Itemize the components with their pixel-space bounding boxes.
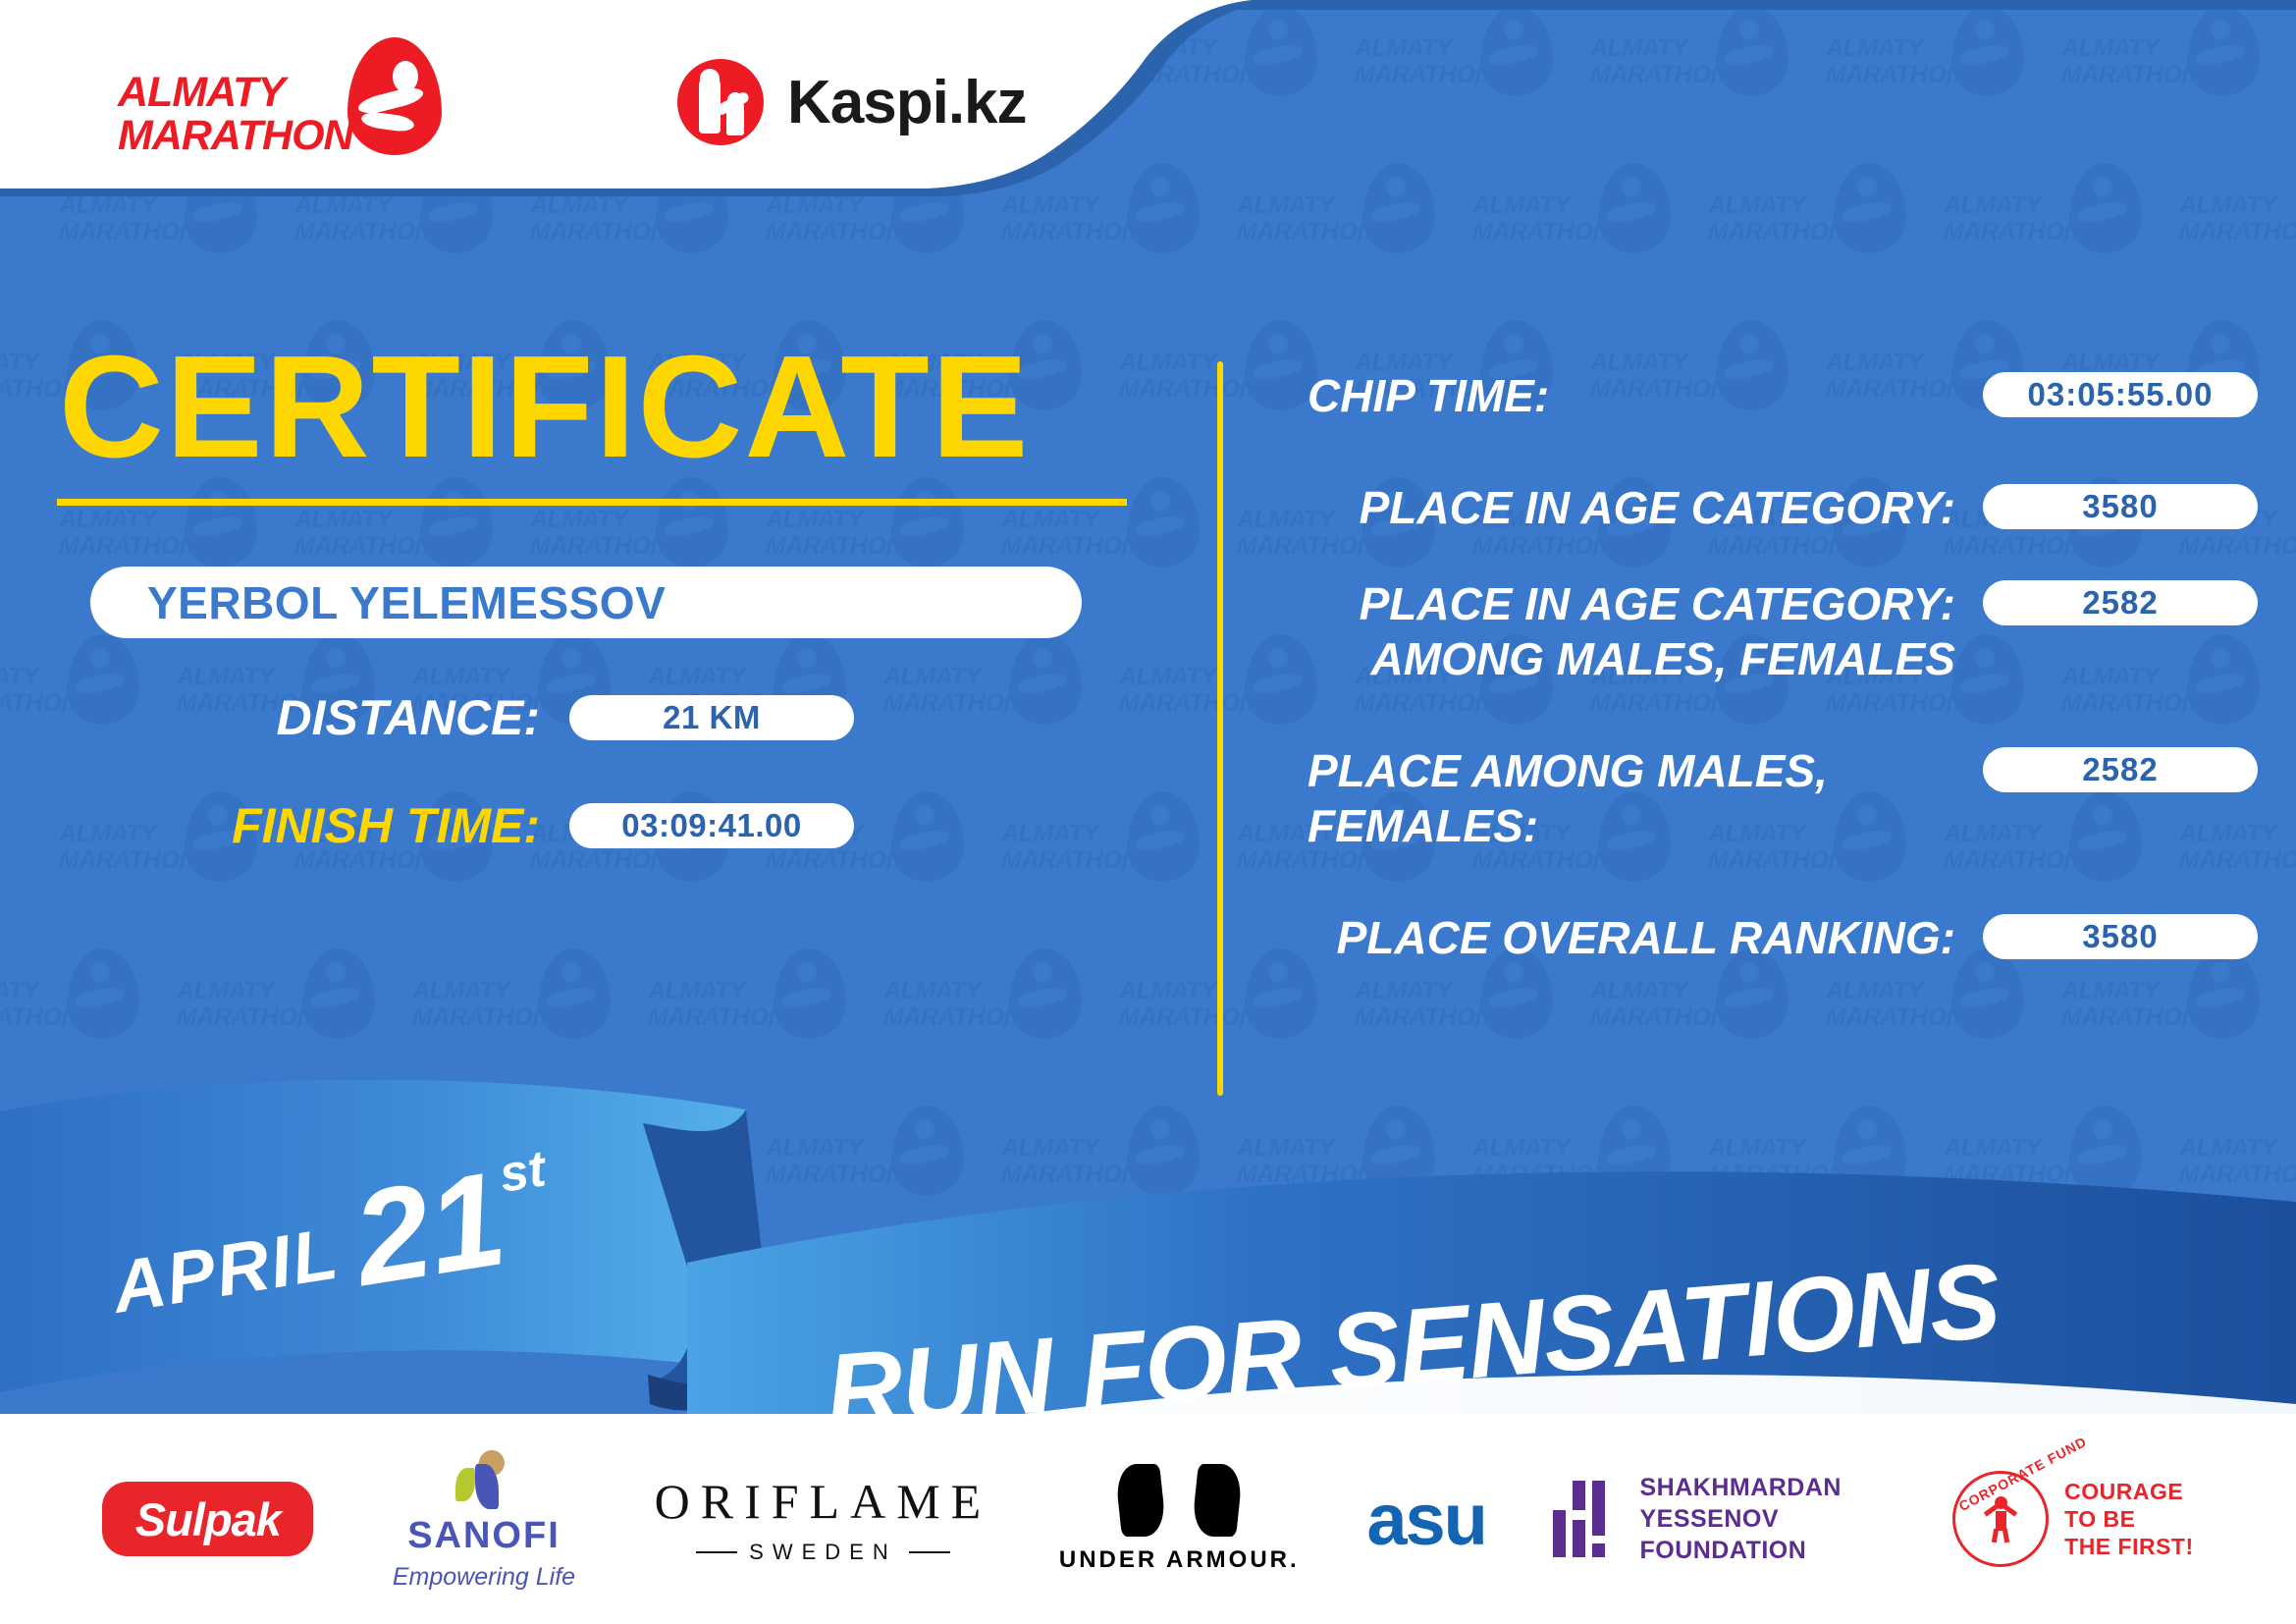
- finish-time-row: FINISH TIME: 03:09:41.00: [0, 797, 1217, 854]
- bar-5: [1592, 1543, 1605, 1557]
- place-in-age-category-value-pill: 3580: [1983, 484, 2258, 529]
- oriflame-subline: SWEDEN: [655, 1540, 992, 1565]
- runner-leg-shape: [360, 110, 415, 133]
- watermark-tile: ALMATYMARATHON: [1355, 0, 1590, 157]
- yessenov-bars-icon: [1553, 1481, 1618, 1557]
- watermark-text: ALMATYMARATHON: [648, 978, 772, 1031]
- page-title: CERTIFICATE: [59, 334, 1217, 481]
- distance-value: 21 KM: [663, 699, 761, 736]
- watermark-tile: ALMATYMARATHON: [177, 943, 412, 1100]
- watermark-text: ALMATYMARATHON: [1472, 192, 1596, 245]
- yessenov-line-2: FOUNDATION: [1639, 1535, 1885, 1566]
- sulpak-wordmark: Sulpak: [135, 1492, 281, 1546]
- kaspi-logo: Kaspi.kz: [677, 59, 1027, 145]
- watermark-tile: ALMATYMARATHON: [2061, 0, 2296, 157]
- courage-line-1: COURAGE: [2064, 1478, 2194, 1505]
- watermark-tile: ALMATYMARATHON: [648, 943, 883, 1100]
- courage-line-2: TO BE: [2064, 1505, 2194, 1533]
- watermark-drop-icon: [1834, 163, 1906, 253]
- distance-value-pill: 21 KM: [569, 695, 854, 740]
- watermark-text: ALMATYMARATHON: [1237, 192, 1361, 245]
- sulpak-logo: Sulpak: [102, 1482, 313, 1556]
- watermark-text: ALMATYMARATHON: [883, 978, 1007, 1031]
- watermark-text: ALMATYMARATHON: [1001, 192, 1125, 245]
- under-armour-logo: UNDER ARMOUR.: [1059, 1464, 1300, 1574]
- watermark-text: ALMATYMARATHON: [294, 192, 418, 245]
- figure-leg-left: [1992, 1529, 1999, 1543]
- watermark-tile: ALMATYMARATHON: [1472, 157, 1708, 314]
- event-day: 21: [347, 1159, 511, 1298]
- watermark-drop-icon: [2187, 6, 2260, 96]
- sanofi-tagline: Empowering Life: [381, 1563, 587, 1592]
- participant-name-field: YERBOL YELEMESSOV: [90, 567, 1082, 638]
- bar-2: [1573, 1481, 1585, 1510]
- watermark-text: ALMATYMARATHON: [1826, 35, 1949, 88]
- oriflame-rule-right: [909, 1551, 950, 1553]
- watermark-text: ALMATYMARATHON: [1355, 35, 1478, 88]
- sanofi-logo: SANOFI Empowering Life: [381, 1450, 587, 1588]
- sanofi-wordmark: SANOFI: [381, 1515, 587, 1557]
- sponsor-oriflame: ORIFLAME SWEDEN: [655, 1473, 992, 1565]
- vertical-divider: [1217, 361, 1223, 1096]
- watermark-text: ALMATYMARATHON: [1944, 192, 2067, 245]
- chip-time-value-pill: 03:05:55.00: [1983, 372, 2258, 417]
- watermark-drop-icon: [1716, 6, 1789, 96]
- label-line-2: AMONG MALES, FEMALES: [1266, 631, 1955, 686]
- place-overall-ranking-value: 3580: [2082, 918, 2158, 955]
- sponsor-sulpak: Sulpak: [102, 1482, 313, 1556]
- kaspi-child-body: [726, 98, 744, 135]
- logo-line-1: ALMATY: [118, 71, 363, 114]
- place-in-age-category-among-label: PLACE IN AGE CATEGORY: AMONG MALES, FEMA…: [1266, 576, 1983, 686]
- watermark-text: ALMATYMARATHON: [59, 192, 183, 245]
- courage-line-3: THE FIRST!: [2064, 1533, 2194, 1560]
- sponsor-sanofi: SANOFI Empowering Life: [381, 1450, 587, 1588]
- left-column: CERTIFICATE YERBOL YELEMESSOV DISTANCE: …: [0, 334, 1217, 854]
- sponsor-yessenov-foundation: SHAKHMARDAN YESSENOV FOUNDATION: [1553, 1472, 1885, 1566]
- watermark-text: ALMATYMARATHON: [412, 978, 536, 1031]
- watermark-tile: ALMATYMARATHON: [1944, 157, 2179, 314]
- corporate-fund-logo: CORPORATE FUND COURAGE TO BE THE FIRST!: [1952, 1471, 2194, 1567]
- chip-time-label: CHIP TIME:: [1266, 368, 1983, 423]
- kaspi-people-icon: [677, 59, 764, 145]
- almaty-marathon-logo: ALMATY MARATHON: [118, 41, 442, 159]
- runner-arm-shape: [356, 84, 425, 117]
- place-in-age-category-row: PLACE IN AGE CATEGORY: 3580: [1266, 480, 2258, 535]
- watermark-drop-icon: [302, 948, 375, 1039]
- watermark-drop-icon: [2069, 163, 2142, 253]
- label-line-2: FEMALES:: [1308, 798, 1983, 853]
- place-in-age-category-among-row: PLACE IN AGE CATEGORY: AMONG MALES, FEMA…: [1266, 576, 2258, 686]
- watermark-text: ALMATYMARATHON: [2061, 35, 2185, 88]
- sponsor-strip: Sulpak SANOFI Empowering Life ORIFLAME S…: [0, 1414, 2296, 1624]
- watermark-drop-icon: [1598, 163, 1671, 253]
- place-in-age-category-among-value: 2582: [2082, 584, 2158, 622]
- title-underline: [57, 499, 1127, 506]
- asu-logo: asu: [1366, 1478, 1486, 1561]
- finish-time-value-pill: 03:09:41.00: [569, 803, 854, 848]
- participant-name-value: YERBOL YELEMESSOV: [147, 576, 666, 629]
- sponsor-asu: asu: [1366, 1478, 1486, 1561]
- watermark-drop-icon: [1480, 6, 1553, 96]
- distance-row: DISTANCE: 21 KM: [0, 689, 1217, 746]
- watermark-drop-icon: [1362, 163, 1435, 253]
- logo-line-2: MARATHON: [118, 114, 363, 157]
- sanofi-mark-icon: [450, 1450, 518, 1511]
- oriflame-rule-left: [696, 1551, 737, 1553]
- corporate-fund-icon: CORPORATE FUND: [1952, 1471, 2049, 1567]
- bar-4: [1592, 1481, 1605, 1536]
- watermark-text: ALMATYMARATHON: [1708, 192, 1832, 245]
- label-line-1: PLACE AMONG MALES,: [1308, 743, 1983, 798]
- place-in-age-category-among-value-pill: 2582: [1983, 580, 2258, 625]
- watermark-drop-icon: [67, 948, 139, 1039]
- bar-3: [1573, 1520, 1585, 1557]
- watermark-tile: ALMATYMARATHON: [2179, 157, 2296, 314]
- oriflame-country: SWEDEN: [749, 1540, 897, 1565]
- corporate-fund-wordmark: COURAGE TO BE THE FIRST!: [2064, 1478, 2194, 1560]
- sponsor-corporate-fund: CORPORATE FUND COURAGE TO BE THE FIRST!: [1952, 1471, 2194, 1567]
- certificate-canvas: ALMATYMARATHONALMATYMARATHONALMATYMARATH…: [0, 0, 2296, 1624]
- right-column: CHIP TIME: 03:05:55.00 PLACE IN AGE CATE…: [1266, 368, 2258, 1006]
- header-panel: ALMATY MARATHON Kaspi.kz: [0, 0, 1276, 196]
- finish-time-value: 03:09:41.00: [621, 807, 801, 844]
- watermark-text: ALMATYMARATHON: [0, 978, 65, 1031]
- corporate-fund-figure: [1984, 1496, 2017, 1542]
- distance-label: DISTANCE:: [0, 689, 540, 746]
- kaspi-wordmark: Kaspi.kz: [787, 68, 1027, 137]
- watermark-text: ALMATYMARATHON: [1119, 978, 1243, 1031]
- yessenov-line-1: SHAKHMARDAN YESSENOV: [1639, 1472, 1885, 1535]
- place-among-males-females-label: PLACE AMONG MALES, FEMALES:: [1266, 743, 1983, 853]
- watermark-drop-icon: [538, 948, 611, 1039]
- sanofi-petal-green: [455, 1468, 475, 1501]
- watermark-tile: ALMATYMARATHON: [883, 943, 1119, 1100]
- place-overall-ranking-value-pill: 3580: [1983, 914, 2258, 959]
- place-among-males-females-value: 2582: [2082, 751, 2158, 788]
- under-armour-wordmark: UNDER ARMOUR.: [1059, 1546, 1300, 1574]
- oriflame-wordmark: ORIFLAME: [655, 1473, 992, 1530]
- oriflame-logo: ORIFLAME SWEDEN: [655, 1473, 992, 1565]
- watermark-tile: ALMATYMARATHON: [1590, 0, 1826, 157]
- place-among-males-females-row: PLACE AMONG MALES, FEMALES: 2582: [1266, 743, 2258, 853]
- watermark-tile: ALMATYMARATHON: [412, 943, 648, 1100]
- yessenov-wordmark: SHAKHMARDAN YESSENOV FOUNDATION: [1639, 1472, 1885, 1566]
- watermark-drop-icon: [1951, 6, 2024, 96]
- label-line-1: PLACE IN AGE CATEGORY:: [1266, 576, 1955, 631]
- sponsor-under-armour: UNDER ARMOUR.: [1059, 1464, 1300, 1574]
- place-in-age-category-label: PLACE IN AGE CATEGORY:: [1266, 480, 1983, 535]
- figure-leg-right: [2002, 1529, 2009, 1543]
- chip-time-row: CHIP TIME: 03:05:55.00: [1266, 368, 2258, 423]
- place-in-age-category-value: 3580: [2082, 488, 2158, 525]
- watermark-text: ALMATYMARATHON: [2179, 192, 2296, 245]
- watermark-tile: ALMATYMARATHON: [0, 943, 177, 1100]
- watermark-drop-icon: [1009, 948, 1082, 1039]
- place-overall-ranking-row: PLACE OVERALL RANKING: 3580: [1266, 910, 2258, 965]
- watermark-text: ALMATYMARATHON: [530, 192, 654, 245]
- watermark-text: ALMATYMARATHON: [766, 192, 889, 245]
- watermark-tile: ALMATYMARATHON: [1708, 157, 1944, 314]
- place-among-males-females-value-pill: 2582: [1983, 747, 2258, 792]
- watermark-text: ALMATYMARATHON: [1590, 35, 1714, 88]
- chip-time-value: 03:05:55.00: [2028, 376, 2214, 413]
- place-overall-ranking-label: PLACE OVERALL RANKING:: [1266, 910, 1983, 965]
- watermark-tile: ALMATYMARATHON: [1826, 0, 2061, 157]
- almaty-marathon-wordmark: ALMATY MARATHON: [118, 71, 363, 157]
- under-armour-icon: [1118, 1464, 1240, 1537]
- finish-time-label: FINISH TIME:: [0, 797, 540, 854]
- watermark-drop-icon: [774, 948, 846, 1039]
- watermark-text: ALMATYMARATHON: [177, 978, 300, 1031]
- yessenov-foundation-logo: SHAKHMARDAN YESSENOV FOUNDATION: [1553, 1472, 1885, 1566]
- event-day-ordinal: st: [496, 1139, 550, 1204]
- bar-1: [1553, 1510, 1566, 1557]
